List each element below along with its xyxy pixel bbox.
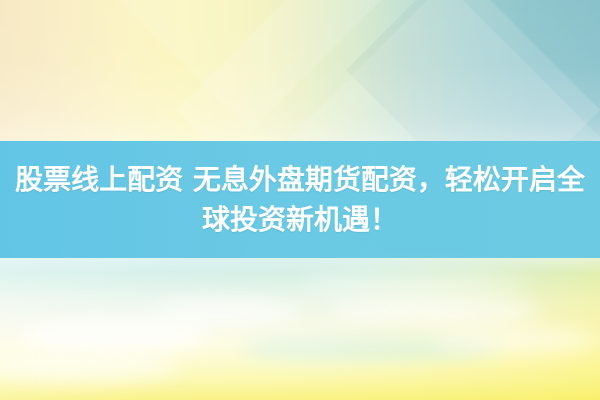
banner-headline-text: 股票线上配资 无息外盘期货配资，轻松开启全球投资新机遇！ [6,160,594,240]
banner-image: 股票线上配资 无息外盘期货配资，轻松开启全球投资新机遇！ [0,0,600,400]
headline-banner: 股票线上配资 无息外盘期货配资，轻松开启全球投资新机遇！ [0,141,600,258]
top-band-haze-overlay [0,0,600,142]
bottom-band-tint-overlay [0,258,600,400]
